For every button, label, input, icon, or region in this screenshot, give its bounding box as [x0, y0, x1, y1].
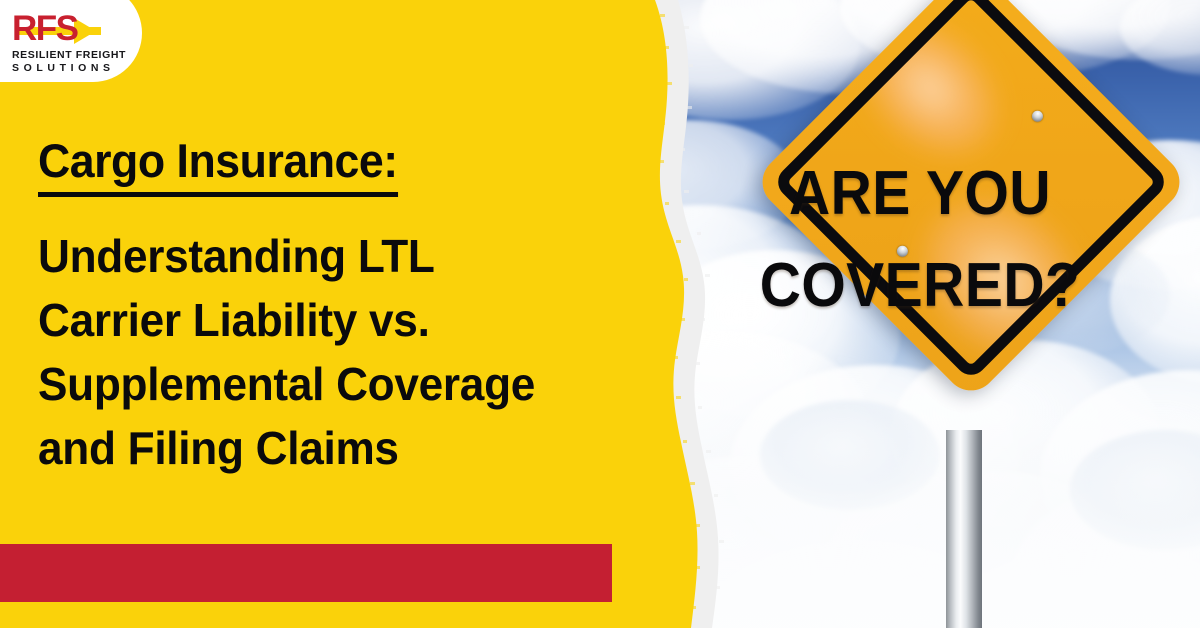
sign-rivet-top — [1029, 108, 1045, 124]
logo-mark-text: RFS — [12, 11, 78, 46]
sign-text-line-1: ARE YOU — [662, 148, 1177, 240]
blog-banner: ARE YOU COVERED? — [0, 0, 1200, 628]
accent-bar — [0, 544, 612, 602]
sky-photo-panel: ARE YOU COVERED? — [640, 0, 1200, 628]
headline-line-2: Carrier Liability vs. — [38, 288, 652, 352]
left-content: RFS RESILIENT FREIGHT SOLUTIONS Cargo In… — [0, 0, 660, 628]
eyebrow-label: Cargo Insurance: — [38, 133, 398, 197]
road-sign: ARE YOU COVERED? — [640, 0, 1200, 628]
logo-tagline-line-1: RESILIENT FREIGHT — [12, 49, 132, 62]
headline-line-4: and Filing Claims — [38, 416, 652, 480]
headline-line-1: Understanding LTL — [38, 224, 652, 288]
page-title: Understanding LTL Carrier Liability vs. … — [38, 224, 652, 480]
logo[interactable]: RFS RESILIENT FREIGHT SOLUTIONS — [12, 10, 132, 75]
logo-plate[interactable]: RFS RESILIENT FREIGHT SOLUTIONS — [0, 0, 142, 82]
sign-post — [946, 430, 982, 628]
logo-mark: RFS — [12, 10, 132, 46]
sign-text: ARE YOU COVERED? — [640, 148, 1200, 332]
logo-tagline-line-2: SOLUTIONS — [12, 62, 132, 75]
sign-text-line-2: COVERED? — [662, 240, 1177, 332]
headline-line-3: Supplemental Coverage — [38, 352, 652, 416]
